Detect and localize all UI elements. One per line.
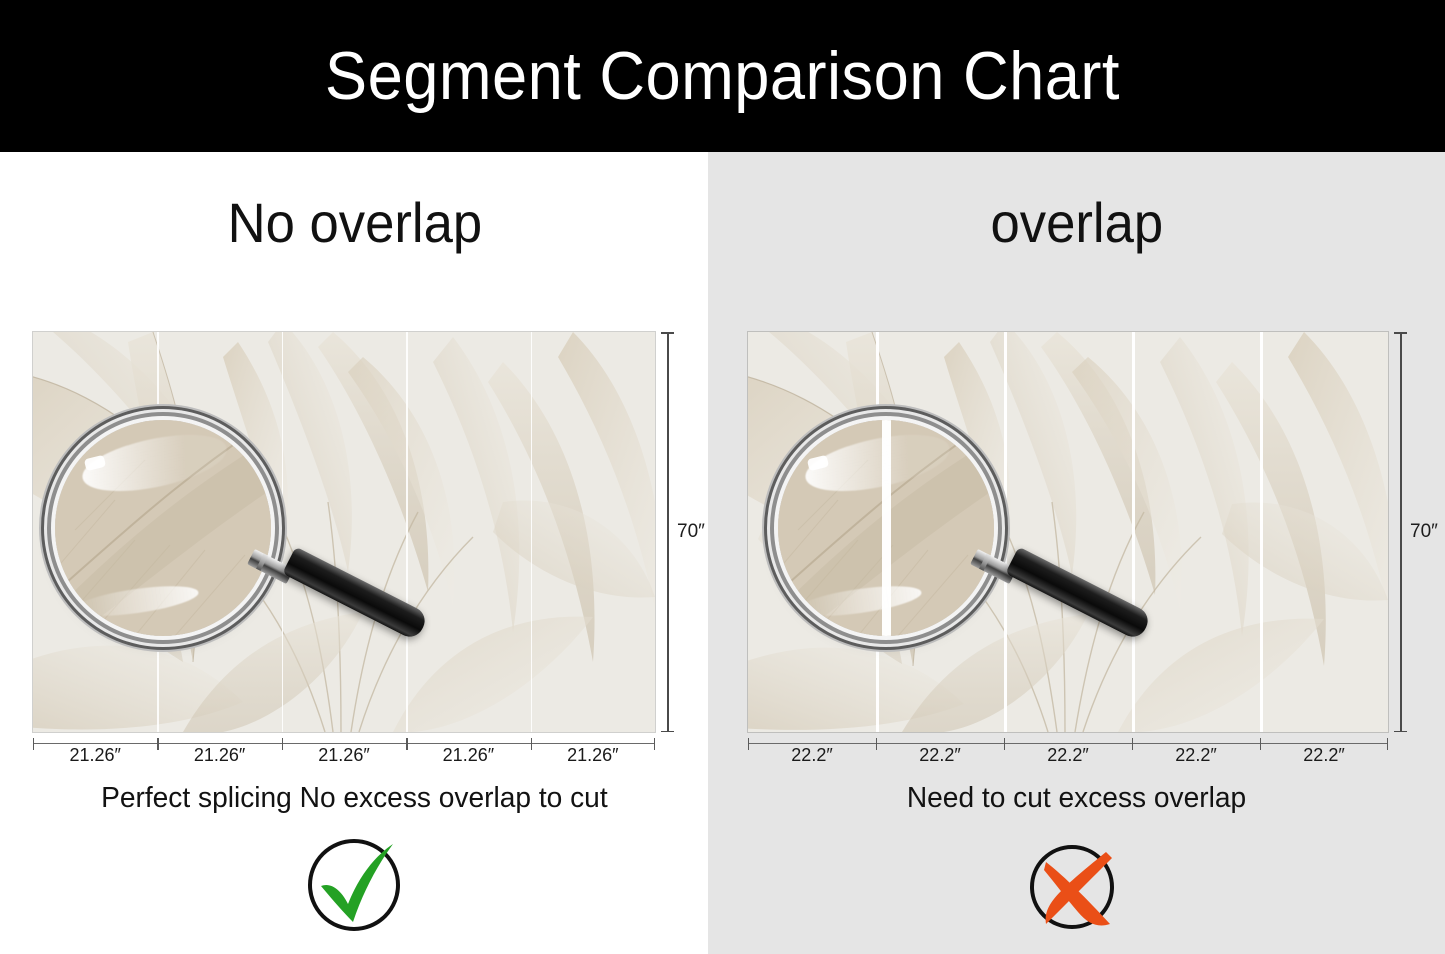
caption-overlap: Need to cut excess overlap (719, 782, 1434, 815)
leaf-pattern-right (748, 332, 1388, 732)
dim-cap-bottom (661, 731, 674, 733)
panel-overlap: overlap (708, 152, 1445, 954)
page-title: Segment Comparison Chart (325, 42, 1120, 110)
segment-label: 21.26″ (157, 745, 281, 766)
mural-overlap: 70″ 22.2″ 22.2″ 22.2″ 22.2″ 22.2″ (748, 332, 1388, 732)
segment-label: 22.2″ (1132, 745, 1260, 766)
segment-dimensions-right: 22.2″ 22.2″ 22.2″ 22.2″ 22.2″ (748, 738, 1388, 764)
segment-label: 21.26″ (282, 745, 406, 766)
panel-heading-overlap: overlap (730, 192, 1432, 254)
segment-label: 22.2″ (876, 745, 1004, 766)
red-cross-icon (1024, 832, 1130, 938)
height-label-left: 70″ (677, 521, 705, 543)
height-label-right: 70″ (1410, 521, 1438, 543)
page-header: Segment Comparison Chart (0, 0, 1445, 152)
dim-cap-bottom (1394, 731, 1407, 733)
mural-no-overlap: 70″ 21.26″ 21.26″ 21.26″ 21.26″ 21.26″ (33, 332, 655, 732)
segment-label: 21.26″ (406, 745, 530, 766)
dim-line (1400, 332, 1402, 732)
mural-image-overlap (748, 332, 1388, 732)
segment-label: 22.2″ (1004, 745, 1132, 766)
mural-image-no-overlap (33, 332, 655, 732)
caption-no-overlap: Perfect splicing No excess overlap to cu… (11, 782, 721, 815)
segment-label: 22.2″ (748, 745, 876, 766)
panel-heading-no-overlap: No overlap (22, 192, 716, 254)
segment-label: 21.26″ (531, 745, 655, 766)
segment-label: 21.26″ (33, 745, 157, 766)
leaf-pattern-left (33, 332, 655, 732)
panel-no-overlap: No overlap (0, 152, 708, 954)
comparison-page: Segment Comparison Chart No overlap (0, 0, 1445, 954)
segment-dimensions-left: 21.26″ 21.26″ 21.26″ 21.26″ 21.26″ (33, 738, 655, 764)
segment-label: 22.2″ (1260, 745, 1388, 766)
dim-line (667, 332, 669, 732)
green-check-icon (301, 832, 407, 938)
